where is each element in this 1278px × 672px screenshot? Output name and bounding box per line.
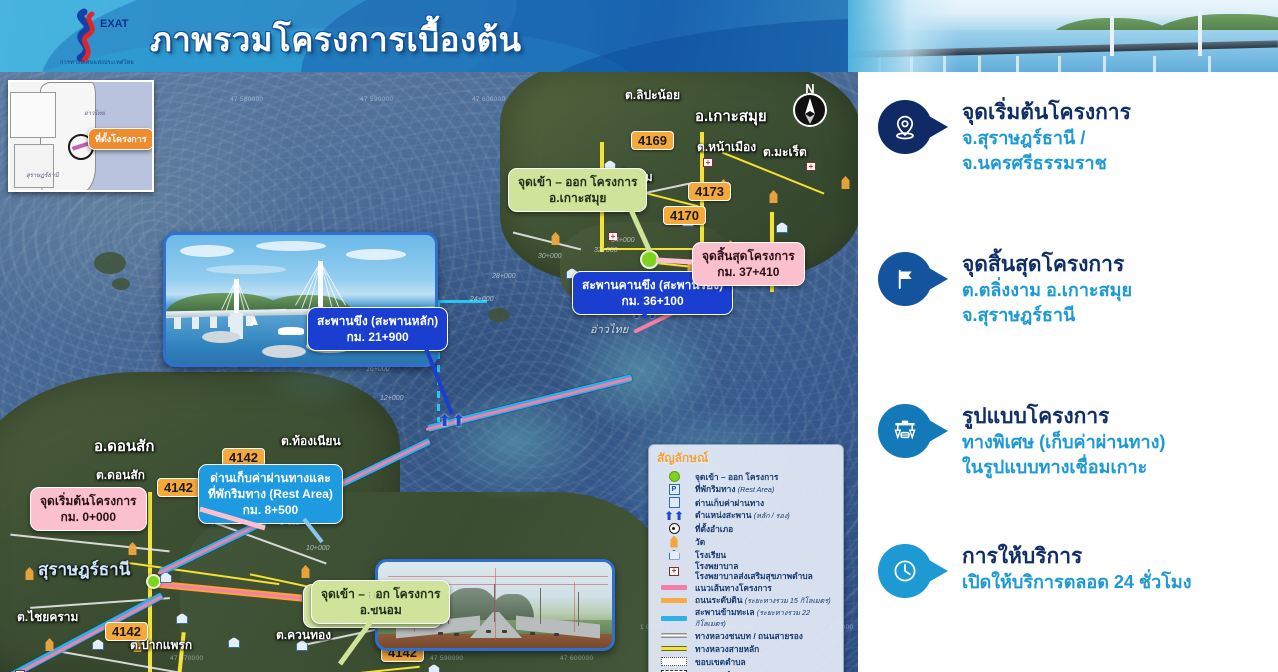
callout-line: กม. 37+410 [702,264,795,280]
amphoe-boundary-icon [659,669,689,672]
exat-logo-text: EXAT [100,18,129,30]
callout-entry-exit-samui[interactable]: จุดเข้า – ออก โครงการ อ.เกาะสมุย [508,168,647,212]
legend-row: สะพานข้ามทะเล (ระยะทางรวม 22 กิโลเมตร) [655,607,837,629]
orange-line-icon [659,595,689,607]
callout-line: จุดเข้า – ออก โครงการ [321,586,440,602]
legend-row: ⬆⬆ตำแหน่งสะพาน (หลัก / รอง) [655,509,837,522]
bridge-marker-main: ⬆ [452,414,465,430]
legend-label: ที่พักริมทาง (Rest Area) [695,484,774,495]
chainage-label: 10+000 [306,545,330,552]
callout-line: จุดเริ่มต้นโครงการ [40,493,137,509]
gray-line-icon [659,630,689,642]
panel-item-line: จ.นครศรีธรรมราช [962,151,1131,176]
panel-item-line: เปิดให้บริการตลอด 24 ชั่วโมง [962,570,1192,595]
callout-line: กม. 21+900 [317,329,438,345]
callout-line: ที่พักริมทาง (Rest Area) [208,486,333,502]
map-place-label: ต.หน้าเมือง [697,138,756,157]
islet [488,308,510,322]
legend-label: สะพานข้ามทะเล (ระยะทางรวม 22 กิโลเมตร) [695,607,837,629]
callout-line: กม. 0+000 [40,509,137,525]
legend-row: ทางหลวงสายหลัก [655,642,837,655]
panel-item-project-end[interactable]: จุดสิ้นสุดโครงการ ต.ตลิ่งงาม อ.เกาะสมุย … [878,252,1132,328]
exat-logo-caption: การทางพิเศษแห่งประเทศไทย [44,59,150,67]
map-place-label: ต.ลิปะน้อย [625,86,680,105]
district-seat-icon [659,523,689,535]
project-map[interactable]: ⬆ ⬆ ⬆ ⬆ P [0,72,858,672]
legend-row: จุดเข้า – ออก โครงการ [655,470,837,483]
header-banner: EXAT การทางพิเศษแห่งประเทศไทย ภาพรวมโครง… [0,0,1278,72]
callout-toll-rest-area[interactable]: ด่านเก็บค่าผ่านทางและ ที่พักริมทาง (Rest… [198,464,343,524]
legend-label: ตำแหน่งสะพาน (หลัก / รอง) [695,510,790,521]
rest-area-icon: P [659,484,689,496]
route-shield: 4173 [688,182,731,201]
toll-gate-icon [878,404,932,458]
callout-line: จุดเข้า – ออก โครงการ [518,174,637,190]
blue-line-icon [659,612,689,624]
legend-label: โรงพยาบาลโรงพยาบาลส่งเสริมสุขภาพตำบล [695,561,813,581]
callout-project-start[interactable]: จุดเริ่มต้นโครงการ กม. 0+000 [30,487,147,531]
svg-text:N: N [805,81,814,96]
chainage-label: 12+000 [380,395,404,402]
panel-item-title: จุดเริ่มต้นโครงการ [962,100,1131,126]
legend-row: ขอบเขตตำบล [655,655,837,668]
panel-item-line: จ.สุราษฎร์ธานี [962,303,1132,328]
hospital-icon: + [806,162,816,171]
legend-row: ที่ตั้งอำเภอ [655,522,837,535]
page-title: ภาพรวมโครงการเบื้องต้น [150,13,522,66]
chainage-label: 32+000 [594,247,618,254]
map-place-label: สุราษฎร์ธานี [38,556,130,583]
legend-row: แนวเส้นทางโครงการ [655,581,837,594]
panel-item-line: จ.สุราษฎร์ธานี / [962,126,1131,151]
legend-row: ทางหลวงชนบท / ถนนสายรอง [655,629,837,642]
legend-label: ทางหลวงชนบท / ถนนสายรอง [695,631,803,641]
location-pin-icon [878,100,932,154]
grid-label: 47 600000 [560,655,593,662]
callout-main-bridge[interactable]: สะพานขึง (สะพานหลัก) กม. 21+900 [307,307,448,351]
chainage-label: 16+000 [366,366,390,373]
clock-icon [878,544,932,598]
grid-label: 47 590000 [360,96,393,103]
legend-label: ด่านเก็บค่าผ่านทาง [695,498,764,508]
map-place-label: ต.ดอนสัก [96,466,145,485]
compass-rose-icon: N [788,80,832,130]
chainage-label: 30+000 [538,253,562,260]
legend-row: ด่านเก็บค่าผ่านทาง [655,496,837,509]
slide-root: EXAT การทางพิเศษแห่งประเทศไทย ภาพรวมโครง… [0,0,1278,672]
legend-row: โรงเรียน [655,548,837,561]
panel-item-project-type[interactable]: รูปแบบโครงการ ทางพิเศษ (เก็บค่าผ่านทาง) … [878,404,1165,480]
temple-icon [659,536,689,548]
flag-icon [878,252,932,306]
panel-item-service-hours[interactable]: การให้บริการ เปิดให้บริการตลอด 24 ชั่วโม… [878,544,1192,598]
hospital-icon: + [659,565,689,577]
green-dot-icon [659,471,689,483]
islet [94,252,126,274]
legend-label: ทางหลวงสายหลัก [695,644,759,654]
legend-label: แนวเส้นทางโครงการ [695,583,772,593]
chainage-label: 28+000 [492,273,516,280]
banner-bridge-photo [848,0,1278,72]
legend-label: ขอบเขตตำบล [695,657,746,667]
route-shield: 4169 [631,131,674,150]
panel-item-title: การให้บริการ [962,544,1192,570]
node-interchange-donsak[interactable] [146,574,161,589]
legend-title: สัญลักษณ์ [657,449,837,468]
yellow-line-icon [659,643,689,655]
legend-label: ถนนระดับดิน (ระยะทางรวม 15 กิโลเมตร) [695,595,831,606]
legend-label: โรงเรียน [695,550,726,560]
panel-item-project-start[interactable]: จุดเริ่มต้นโครงการ จ.สุราษฎร์ธานี / จ.นค… [878,100,1131,176]
callout-line: อ.ขนอม [321,602,440,618]
map-place-label: อ.เกาะสมุย [695,104,767,128]
bridge-marker-main: ⬆ [438,414,451,430]
node-interchange-samui[interactable] [640,250,659,269]
tambon-boundary-icon [659,656,689,668]
school-icon [659,549,689,561]
panel-item-line: ทางพิเศษ (เก็บค่าผ่านทาง) [962,430,1165,455]
route-shield: 4142 [105,622,148,641]
panel-item-line: ในรูปแบบทางเชื่อมเกาะ [962,455,1165,480]
panel-item-title: จุดสิ้นสุดโครงการ [962,252,1132,278]
callout-line: สะพานขึง (สะพานหลัก) [317,314,438,328]
chainage-label: 34+000 [611,237,635,244]
pink-line-icon [659,582,689,594]
map-place-label: ต.ท้องเนียน [281,432,341,451]
map-place-label: อ่าวไทย [590,320,628,338]
bridge-arrows-icon: ⬆⬆ [659,510,689,522]
exat-logo: EXAT การทางพิเศษแห่งประเทศไทย [44,4,150,68]
route-shield: 4142 [157,478,200,497]
inset-callout-project-location: ที่ตั้งโครงการ [88,128,154,150]
map-legend[interactable]: สัญลักษณ์ จุดเข้า – ออก โครงการPที่พักริ… [648,444,844,672]
legend-rows: จุดเข้า – ออก โครงการPที่พักริมทาง (Rest… [655,470,837,672]
map-place-label: อ.ดอนสัก [94,434,154,458]
callout-line: กม. 8+500 [208,502,333,518]
legend-row: +โรงพยาบาลโรงพยาบาลส่งเสริมสุขภาพตำบล [655,561,837,581]
callout-entry-exit-khanom[interactable]: จุดเข้า – ออก โครงการ อ.ขนอม [311,580,450,624]
inset-sea-label: อ่าวไทย [84,108,105,118]
inset-location-map[interactable]: อ่าวไทย สุราษฎร์ธานี ที่ตั้งโครงการ [8,80,154,192]
grid-label: 47 600000 [472,96,505,103]
callout-line: ด่านเก็บค่าผ่านทางและ [208,470,333,486]
islet [112,278,130,290]
callout-line: จุดสิ้นสุดโครงการ [702,248,795,264]
map-place-label: ต.ไชยคราม [17,608,78,627]
legend-label: วัด [695,537,705,547]
info-panel: จุดเริ่มต้นโครงการ จ.สุราษฎร์ธานี / จ.นค… [858,72,1278,672]
callout-line: อ.เกาะสมุย [518,190,637,206]
route-shield: 4170 [663,206,706,225]
legend-label: จุดเข้า – ออก โครงการ [695,472,778,482]
grid-label: 47 580000 [230,96,263,103]
grid-label: 47 590000 [430,655,463,662]
chainage-label: 24+000 [470,296,494,303]
panel-item-line: ต.ตลิ่งงาม อ.เกาะสมุย [962,278,1132,303]
panel-item-title: รูปแบบโครงการ [962,404,1165,430]
inset-province-label: สุราษฎร์ธานี [26,170,59,180]
callout-project-end[interactable]: จุดสิ้นสุดโครงการ กม. 37+410 [692,242,805,286]
legend-row: Pที่พักริมทาง (Rest Area) [655,483,837,496]
hospital-icon: + [703,158,713,167]
map-place-label: ต.ควนทอง [276,626,331,645]
legend-row: วัด [655,535,837,548]
callout-line: กม. 36+100 [582,293,723,309]
legend-label: ที่ตั้งอำเภอ [695,524,733,534]
map-place-label: ต.มะเร็ต [763,143,807,162]
legend-row: ขอบเขตอำเภอ [655,668,837,672]
toll-booth-icon [659,497,689,509]
grid-label: 47 570000 [170,655,203,662]
legend-row: ถนนระดับดิน (ระยะทางรวม 15 กิโลเมตร) [655,594,837,607]
